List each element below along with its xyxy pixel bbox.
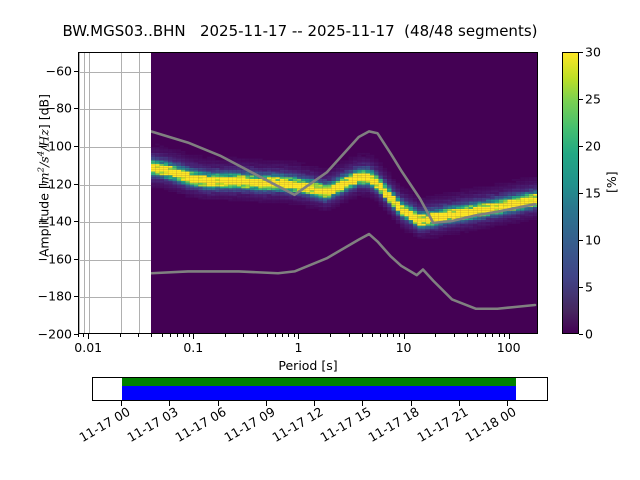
histogram-cell — [357, 153, 361, 155]
histogram-cell — [524, 190, 528, 192]
y-axis-tick — [74, 71, 78, 72]
histogram-cell — [297, 185, 301, 187]
histogram-cell — [378, 168, 382, 170]
histogram-cell — [421, 231, 425, 233]
histogram-cell — [232, 196, 236, 198]
histogram-cell — [292, 175, 296, 177]
histogram-cell — [314, 183, 318, 185]
histogram-cell — [485, 196, 489, 198]
histogram-cell — [219, 168, 223, 170]
histogram-cell — [387, 172, 391, 174]
histogram-cell — [417, 205, 421, 207]
histogram-cell — [206, 181, 210, 183]
histogram-cell — [468, 218, 472, 220]
histogram-cell — [361, 183, 365, 185]
histogram-cell — [301, 201, 305, 203]
histogram-cell — [168, 158, 172, 160]
histogram-cell — [297, 162, 301, 164]
histogram-cell — [438, 209, 442, 211]
histogram-cell — [352, 179, 356, 181]
histogram-cell — [335, 188, 339, 190]
histogram-cell — [455, 228, 459, 230]
histogram-cell — [305, 172, 309, 174]
histogram-cell — [288, 160, 292, 162]
histogram-cell — [172, 190, 176, 192]
histogram-cell — [215, 186, 219, 188]
psd-coverage-bar — [122, 378, 516, 386]
histogram-cell — [460, 190, 464, 192]
histogram-cell — [185, 185, 189, 187]
histogram-cell — [327, 190, 331, 192]
histogram-cell — [400, 213, 404, 215]
histogram-cell — [159, 160, 163, 162]
histogram-cell — [511, 203, 515, 205]
histogram-cell — [172, 149, 176, 151]
histogram-cell — [254, 186, 258, 188]
histogram-cell — [202, 160, 206, 162]
histogram-cell — [387, 200, 391, 202]
histogram-cell — [151, 155, 155, 157]
histogram-cell — [447, 203, 451, 205]
histogram-cell — [232, 190, 236, 192]
histogram-cell — [202, 168, 206, 170]
histogram-cell — [279, 181, 283, 183]
histogram-cell — [400, 224, 404, 226]
histogram-cell — [275, 181, 279, 183]
histogram-cell — [335, 177, 339, 179]
histogram-cell — [155, 162, 159, 164]
histogram-cell — [395, 205, 399, 207]
histogram-cell — [266, 185, 270, 187]
histogram-cell — [370, 198, 374, 200]
histogram-cell — [348, 168, 352, 170]
histogram-cell — [322, 209, 326, 211]
histogram-cell — [477, 209, 481, 211]
histogram-cell — [481, 190, 485, 192]
histogram-cell — [524, 218, 528, 220]
histogram-cell — [443, 194, 447, 196]
histogram-cell — [189, 192, 193, 194]
histogram-cell — [185, 196, 189, 198]
histogram-cell — [241, 164, 245, 166]
histogram-cell — [447, 229, 451, 231]
timeline-ticklabel: 11-17 03 — [125, 404, 181, 445]
histogram-cell — [498, 186, 502, 188]
histogram-cell — [279, 183, 283, 185]
histogram-cell — [434, 226, 438, 228]
histogram-cell — [361, 181, 365, 183]
histogram-cell — [189, 158, 193, 160]
histogram-cell — [266, 162, 270, 164]
histogram-cell — [176, 160, 180, 162]
histogram-cell — [490, 198, 494, 200]
histogram-cell — [516, 213, 520, 215]
histogram-cell — [159, 157, 163, 159]
histogram-cell — [215, 173, 219, 175]
histogram-cell — [417, 216, 421, 218]
histogram-cell — [533, 207, 537, 209]
histogram-cell — [163, 172, 167, 174]
histogram-cell — [335, 203, 339, 205]
histogram-cell — [507, 194, 511, 196]
histogram-cell — [288, 196, 292, 198]
histogram-cell — [438, 196, 442, 198]
histogram-cell — [528, 190, 532, 192]
histogram-cell — [271, 198, 275, 200]
histogram-cell — [211, 162, 215, 164]
histogram-cell — [211, 166, 215, 168]
histogram-cell — [468, 213, 472, 215]
histogram-cell — [391, 218, 395, 220]
histogram-cell — [412, 198, 416, 200]
histogram-cell — [245, 162, 249, 164]
histogram-cell — [249, 190, 253, 192]
histogram-cell — [404, 211, 408, 213]
histogram-cell — [271, 192, 275, 194]
histogram-cell — [232, 188, 236, 190]
histogram-cell — [464, 200, 468, 202]
histogram-cell — [339, 190, 343, 192]
histogram-cell — [485, 216, 489, 218]
histogram-cell — [408, 222, 412, 224]
histogram-cell — [468, 201, 472, 203]
histogram-cell — [485, 228, 489, 230]
histogram-cell — [279, 194, 283, 196]
histogram-cell — [224, 172, 228, 174]
histogram-cell — [455, 229, 459, 231]
histogram-cell — [318, 203, 322, 205]
histogram-cell — [498, 220, 502, 222]
histogram-cell — [507, 196, 511, 198]
histogram-cell — [215, 196, 219, 198]
histogram-cell — [412, 222, 416, 224]
histogram-cell — [228, 190, 232, 192]
histogram-cell — [163, 149, 167, 151]
histogram-cell — [528, 218, 532, 220]
histogram-cell — [404, 188, 408, 190]
histogram-cell — [206, 177, 210, 179]
histogram-cell — [322, 181, 326, 183]
histogram-cell — [155, 166, 159, 168]
histogram-cell — [520, 201, 524, 203]
histogram-cell — [451, 211, 455, 213]
histogram-cell — [335, 192, 339, 194]
histogram-cell — [473, 198, 477, 200]
histogram-cell — [185, 194, 189, 196]
histogram-cell — [305, 179, 309, 181]
histogram-cell — [301, 173, 305, 175]
histogram-cell — [503, 201, 507, 203]
x-axis-minor-tick — [183, 334, 184, 337]
histogram-cell — [382, 209, 386, 211]
histogram-cell — [533, 213, 537, 215]
histogram-cell — [477, 216, 481, 218]
histogram-cell — [434, 211, 438, 213]
histogram-cell — [327, 175, 331, 177]
histogram-cell — [344, 194, 348, 196]
histogram-cell — [365, 158, 369, 160]
histogram-cell — [408, 192, 412, 194]
histogram-cell — [172, 162, 176, 164]
histogram-cell — [292, 203, 296, 205]
histogram-cell — [232, 175, 236, 177]
histogram-cell — [327, 201, 331, 203]
histogram-cell — [301, 172, 305, 174]
histogram-cell — [387, 186, 391, 188]
histogram-cell — [370, 186, 374, 188]
histogram-cell — [370, 166, 374, 168]
histogram-cell — [224, 179, 228, 181]
histogram-cell — [314, 201, 318, 203]
histogram-cell — [151, 170, 155, 172]
histogram-cell — [485, 207, 489, 209]
noise-model-nlnm — [151, 234, 535, 309]
histogram-cell — [507, 185, 511, 187]
histogram-cell — [322, 194, 326, 196]
histogram-cell — [511, 213, 515, 215]
x-axis-ticklabel: 0.01 — [74, 340, 102, 355]
histogram-cell — [288, 172, 292, 174]
histogram-cell — [245, 194, 249, 196]
histogram-cell — [181, 153, 185, 155]
histogram-cell — [327, 198, 331, 200]
histogram-cell — [254, 181, 258, 183]
histogram-cell — [305, 177, 309, 179]
histogram-cell — [455, 194, 459, 196]
histogram-cell — [206, 166, 210, 168]
histogram-cell — [176, 149, 180, 151]
histogram-cell — [507, 213, 511, 215]
histogram-cell — [507, 190, 511, 192]
histogram-cell — [193, 155, 197, 157]
histogram-cell — [503, 196, 507, 198]
histogram-cell — [374, 194, 378, 196]
histogram-cell — [339, 181, 343, 183]
histogram-cell — [481, 224, 485, 226]
histogram-cell — [163, 166, 167, 168]
histogram-cell — [447, 228, 451, 230]
histogram-cell — [348, 196, 352, 198]
histogram-cell — [266, 164, 270, 166]
histogram-cell — [185, 160, 189, 162]
histogram-cell — [421, 235, 425, 237]
histogram-cell — [357, 160, 361, 162]
histogram-cell — [412, 218, 416, 220]
histogram-cell — [451, 192, 455, 194]
histogram-cell — [219, 188, 223, 190]
histogram-cell — [163, 162, 167, 164]
histogram-cell — [266, 194, 270, 196]
histogram-cell — [408, 209, 412, 211]
histogram-cell — [284, 170, 288, 172]
histogram-cell — [163, 158, 167, 160]
histogram-cell — [365, 196, 369, 198]
histogram-cell — [400, 220, 404, 222]
histogram-cell — [490, 188, 494, 190]
histogram-cell — [498, 183, 502, 185]
histogram-cell — [275, 173, 279, 175]
histogram-cell — [288, 173, 292, 175]
histogram-cell — [370, 177, 374, 179]
histogram-cell — [339, 200, 343, 202]
histogram-cell — [292, 190, 296, 192]
histogram-cell — [438, 218, 442, 220]
histogram-cell — [412, 211, 416, 213]
gridline-vertical — [79, 53, 80, 333]
histogram-cell — [241, 186, 245, 188]
histogram-cell — [211, 188, 215, 190]
histogram-cell — [305, 194, 309, 196]
histogram-cell — [425, 237, 429, 239]
histogram-cell — [327, 205, 331, 207]
histogram-cell — [382, 183, 386, 185]
histogram-cell — [464, 201, 468, 203]
histogram-cell — [202, 192, 206, 194]
histogram-cell — [490, 209, 494, 211]
histogram-cell — [468, 190, 472, 192]
histogram-cell — [254, 185, 258, 187]
histogram-cell — [451, 200, 455, 202]
histogram-cell — [378, 164, 382, 166]
histogram-cell — [391, 207, 395, 209]
histogram-cell — [481, 218, 485, 220]
histogram-cell — [520, 190, 524, 192]
histogram-cell — [473, 228, 477, 230]
histogram-cell — [249, 162, 253, 164]
histogram-cell — [477, 186, 481, 188]
histogram-cell — [421, 214, 425, 216]
histogram-cell — [292, 168, 296, 170]
histogram-cell — [400, 209, 404, 211]
histogram-cell — [533, 185, 537, 187]
x-axis-minor-tick — [282, 334, 283, 337]
histogram-cell — [520, 218, 524, 220]
histogram-cell — [494, 183, 498, 185]
colorbar-ticklabel: 30 — [585, 45, 601, 60]
data-coverage-timeline[interactable] — [92, 377, 548, 401]
histogram-cell — [348, 177, 352, 179]
histogram-cell — [391, 183, 395, 185]
histogram-cell — [288, 183, 292, 185]
histogram-cell — [249, 168, 253, 170]
histogram-cell — [370, 175, 374, 177]
histogram-cell — [215, 183, 219, 185]
y-axis-tick — [74, 108, 78, 109]
histogram-cell — [241, 194, 245, 196]
histogram-cell — [297, 196, 301, 198]
histogram-cell — [284, 181, 288, 183]
histogram-cell — [361, 194, 365, 196]
histogram-cell — [378, 179, 382, 181]
histogram-cell — [352, 196, 356, 198]
histogram-cell — [352, 185, 356, 187]
histogram-cell — [236, 181, 240, 183]
histogram-cell — [382, 173, 386, 175]
histogram-cell — [335, 200, 339, 202]
y-axis-title: Amplitude [m2/s4/Hz] [dB] — [36, 46, 51, 306]
histogram-cell — [305, 198, 309, 200]
histogram-cell — [215, 194, 219, 196]
histogram-cell — [215, 175, 219, 177]
histogram-cell — [155, 172, 159, 174]
histogram-cell — [318, 190, 322, 192]
histogram-cell — [485, 222, 489, 224]
histogram-cell — [159, 162, 163, 164]
histogram-cell — [155, 164, 159, 166]
histogram-cell — [249, 196, 253, 198]
histogram-cell — [464, 196, 468, 198]
histogram-cell — [211, 170, 215, 172]
histogram-cell — [202, 158, 206, 160]
histogram-cell — [193, 190, 197, 192]
histogram-cell — [498, 201, 502, 203]
histogram-cell — [460, 213, 464, 215]
histogram-cell — [331, 194, 335, 196]
histogram-cell — [151, 166, 155, 168]
histogram-cell — [288, 164, 292, 166]
histogram-cell — [155, 175, 159, 177]
histogram-cell — [425, 220, 429, 222]
histogram-cell — [301, 198, 305, 200]
histogram-cell — [395, 222, 399, 224]
histogram-cell — [327, 194, 331, 196]
histogram-cell — [361, 172, 365, 174]
histogram-cell — [211, 185, 215, 187]
histogram-cell — [159, 170, 163, 172]
histogram-cell — [335, 181, 339, 183]
histogram-cell — [189, 190, 193, 192]
histogram-cell — [378, 181, 382, 183]
histogram-cell — [279, 192, 283, 194]
histogram-cell — [404, 207, 408, 209]
histogram-cell — [339, 164, 343, 166]
histogram-cell — [357, 179, 361, 181]
histogram-cell — [176, 190, 180, 192]
histogram-cell — [387, 183, 391, 185]
histogram-cell — [391, 216, 395, 218]
histogram-cell — [279, 166, 283, 168]
histogram-cell — [181, 155, 185, 157]
histogram-cell — [408, 231, 412, 233]
histogram-cell — [232, 200, 236, 202]
histogram-cell — [301, 196, 305, 198]
x-axis-minor-tick — [387, 334, 388, 337]
histogram-cell — [228, 168, 232, 170]
histogram-cell — [434, 214, 438, 216]
histogram-cell — [382, 175, 386, 177]
ppsd-plot-axes[interactable] — [78, 52, 538, 334]
histogram-cell — [219, 185, 223, 187]
histogram-cell — [219, 166, 223, 168]
histogram-cell — [279, 201, 283, 203]
histogram-cell — [224, 196, 228, 198]
histogram-cell — [395, 213, 399, 215]
histogram-cell — [481, 216, 485, 218]
histogram-cell — [314, 188, 318, 190]
histogram-cell — [408, 226, 412, 228]
histogram-cell — [232, 194, 236, 196]
histogram-cell — [425, 200, 429, 202]
histogram-cell — [236, 175, 240, 177]
histogram-cell — [468, 222, 472, 224]
histogram-cell — [284, 179, 288, 181]
histogram-cell — [447, 226, 451, 228]
histogram-cell — [524, 198, 528, 200]
histogram-cell — [228, 192, 232, 194]
histogram-cell — [507, 201, 511, 203]
histogram-cell — [460, 229, 464, 231]
histogram-cell — [490, 214, 494, 216]
